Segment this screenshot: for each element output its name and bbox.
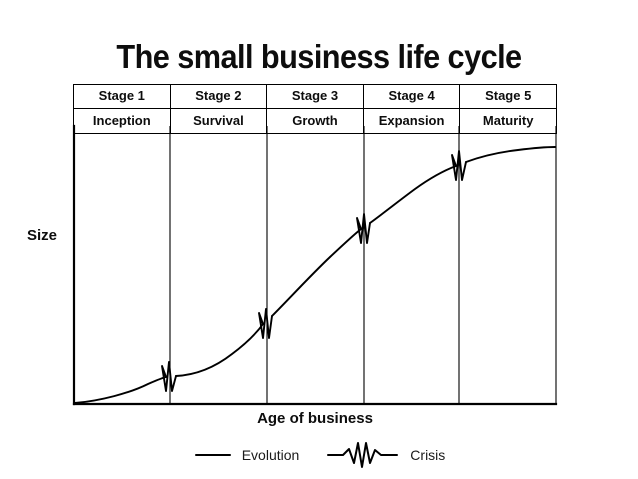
legend-item-crisis: Crisis <box>325 440 445 470</box>
legend-item-evolution: Evolution <box>193 447 300 463</box>
stage-divider-lines <box>170 126 459 404</box>
evolution-segment-stage-2 <box>176 324 263 376</box>
stage-name-cell: Inception <box>74 109 171 134</box>
stage-number-cell: Stage 4 <box>363 85 460 109</box>
chart-figure: The small business life cycle Stage 1 St… <box>0 0 638 479</box>
line-swatch-icon <box>193 447 233 463</box>
stage-number-cell: Stage 1 <box>74 85 171 109</box>
evolution-segment-stage-3 <box>272 229 361 316</box>
table-row-stage-names: Inception Survival Growth Expansion Matu… <box>74 109 557 134</box>
crisis-zigzag-icon <box>162 362 176 391</box>
crisis-zigzag-icon <box>452 151 466 180</box>
axis-lines <box>74 126 556 404</box>
stage-name-cell: Maturity <box>460 109 557 134</box>
crisis-zigzag-icon <box>357 214 370 243</box>
evolution-segment-stage-4 <box>370 166 456 223</box>
page-title: The small business life cycle <box>22 38 615 76</box>
stage-name-cell: Growth <box>267 109 364 134</box>
stage-number-cell: Stage 5 <box>460 85 557 109</box>
legend-label-evolution: Evolution <box>242 447 300 463</box>
stage-header-table: Stage 1 Stage 2 Stage 3 Stage 4 Stage 5 … <box>73 84 557 134</box>
zigzag-swatch-icon <box>325 440 401 470</box>
evolution-curve <box>75 147 555 403</box>
chart-legend: Evolution Crisis <box>0 440 638 470</box>
stage-number-cell: Stage 2 <box>170 85 267 109</box>
crisis-markers <box>162 151 466 391</box>
x-axis-label: Age of business <box>163 410 467 427</box>
stage-name-cell: Survival <box>170 109 267 134</box>
legend-label-crisis: Crisis <box>410 447 445 463</box>
evolution-segment-stage-5 <box>466 147 555 162</box>
stage-name-cell: Expansion <box>363 109 460 134</box>
stage-number-cell: Stage 3 <box>267 85 364 109</box>
table-row-stage-numbers: Stage 1 Stage 2 Stage 3 Stage 4 Stage 5 <box>74 85 557 109</box>
crisis-zigzag-icon <box>259 309 272 338</box>
evolution-segment-stage-1 <box>75 377 166 403</box>
y-axis-label: Size <box>16 227 68 244</box>
